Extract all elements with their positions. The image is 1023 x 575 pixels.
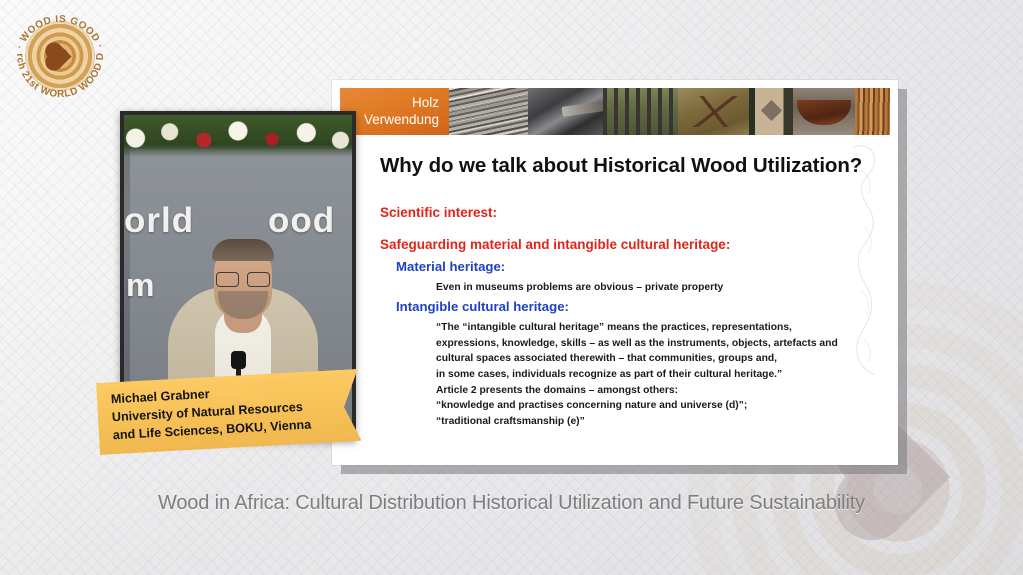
quote-line-2: expressions, knowledge, skills – as well…: [436, 336, 882, 352]
logo-top-text: · WOOD IS GOOD ·: [15, 14, 106, 51]
slide-header-band: Holz Verwendung: [340, 88, 890, 135]
glasses-icon: [216, 272, 270, 285]
speaker-nameplate: Michael Grabner University of Natural Re…: [96, 369, 362, 455]
quote-line-1: “The “intangible cultural heritage” mean…: [436, 320, 882, 336]
quote-line-7: “traditional craftsmanship (e)”: [436, 414, 882, 430]
header-photo-strip: [449, 88, 890, 135]
tree-trunk-heart-photo: [749, 88, 793, 135]
logo-text-ring: · WOOD IS GOOD · March 21st WORLD WOOD D…: [10, 6, 110, 106]
quote-line-6: “knowledge and practises concerning natu…: [436, 398, 882, 414]
holz-verwendung-line1: Holz: [412, 95, 439, 111]
heading-material-heritage: Material heritage:: [396, 259, 505, 274]
heading-intangible-heritage: Intangible cultural heritage:: [396, 299, 569, 314]
intangible-heritage-quote: “The “intangible cultural heritage” mean…: [436, 320, 882, 429]
axe-blade-photo: [528, 88, 603, 135]
quote-line-4: in some cases, individuals recognize as …: [436, 367, 882, 383]
carved-bark-photo: [678, 88, 749, 135]
wooden-boat-photo: [793, 88, 855, 135]
world-wood-day-logo: · WOOD IS GOOD · March 21st WORLD WOOD D…: [10, 6, 110, 106]
speaker-hair: [212, 239, 274, 261]
heading-scientific-interest: Scientific interest:: [380, 205, 497, 220]
banner-word-2: m: [126, 267, 155, 304]
wooden-fence-photo: [603, 88, 678, 135]
session-title-caption: Wood in Africa: Cultural Distribution Hi…: [0, 492, 1023, 515]
slide-title: Why do we talk about Historical Wood Uti…: [380, 154, 868, 178]
material-heritage-note: Even in museums problems are obvious – p…: [436, 282, 723, 293]
stacked-logs-photo: [449, 88, 528, 135]
holz-verwendung-line2: Verwendung: [364, 112, 439, 128]
flower-decoration: [120, 115, 356, 157]
quote-line-3: cultural spaces associated therewith – t…: [436, 351, 882, 367]
wood-planks-photo: [855, 88, 890, 135]
presentation-stage: · WOOD IS GOOD · March 21st WORLD WOOD D…: [0, 0, 1023, 575]
presentation-slide[interactable]: Holz Verwendung Why do we talk about His…: [332, 80, 898, 465]
quote-line-5: Article 2 presents the domains – amongst…: [436, 383, 882, 399]
holz-verwendung-box: Holz Verwendung: [340, 88, 449, 135]
heading-safeguarding: Safeguarding material and intangible cul…: [380, 237, 730, 252]
